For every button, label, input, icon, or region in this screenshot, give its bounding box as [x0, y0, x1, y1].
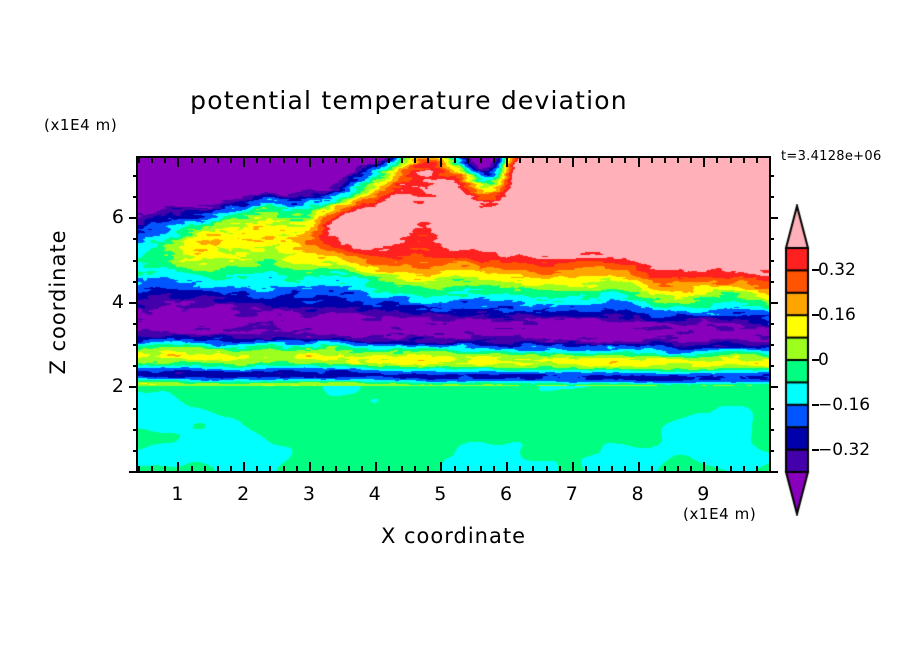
- x-axis-tick: [414, 466, 416, 471]
- x-axis-tick: [638, 462, 640, 471]
- colorbar-tick: [812, 449, 819, 451]
- x-axis-tick: [703, 462, 705, 471]
- y-axis-tick: [769, 450, 774, 452]
- x-axis-tick: [361, 158, 363, 163]
- x-axis-tick: [546, 158, 548, 163]
- y-axis-tick: [769, 217, 778, 219]
- x-axis-tick: [164, 466, 166, 471]
- x-axis-tick: [532, 466, 534, 471]
- x-axis-tick: [177, 158, 179, 167]
- y-axis-tick-labels: 246: [124, 158, 138, 471]
- x-axis-tick: [585, 158, 587, 163]
- x-axis-tick: [703, 158, 705, 167]
- colorbar-gradient: [782, 204, 812, 516]
- x-axis-tick: [243, 158, 245, 167]
- x-axis-label: X coordinate: [136, 524, 771, 548]
- x-axis-tick: [401, 158, 403, 163]
- x-axis-tick: [598, 466, 600, 471]
- colorbar-tick-label: 0.32: [818, 260, 856, 280]
- x-axis-tick: [151, 158, 153, 163]
- y-axis-tick: [769, 323, 774, 325]
- x-axis-tick-label: 7: [566, 483, 578, 505]
- x-axis-tick: [138, 466, 140, 471]
- x-axis-tick-label: 1: [171, 483, 183, 505]
- x-axis-tick: [191, 466, 193, 471]
- x-axis-tick: [519, 466, 521, 471]
- x-axis-tick: [730, 158, 732, 163]
- x-axis-tick: [164, 158, 166, 163]
- colorbar: 0.320.160−0.16−0.32: [782, 204, 812, 516]
- x-axis-tick: [690, 466, 692, 471]
- y-axis-tick-label: 6: [112, 206, 124, 228]
- x-axis-tick: [624, 466, 626, 471]
- x-axis-tick: [743, 466, 745, 471]
- x-axis-tick: [440, 462, 442, 471]
- x-axis-tick: [375, 158, 377, 167]
- x-axis-tick: [348, 158, 350, 163]
- x-axis-tick-label: 9: [697, 483, 709, 505]
- y-axis-tick: [129, 471, 138, 473]
- x-axis-tick-label: 4: [369, 483, 381, 505]
- x-axis-tick: [335, 466, 337, 471]
- x-axis-tick: [283, 158, 285, 163]
- x-axis-tick: [506, 462, 508, 471]
- x-axis-tick: [322, 466, 324, 471]
- x-axis-tick: [361, 466, 363, 471]
- x-axis-tick: [585, 466, 587, 471]
- x-axis-tick: [427, 466, 429, 471]
- x-axis-tick-label: 5: [434, 483, 446, 505]
- x-axis-tick: [388, 158, 390, 163]
- x-axis-tick: [664, 466, 666, 471]
- y-axis-tick: [769, 365, 774, 367]
- x-axis-tick: [651, 158, 653, 163]
- x-axis-tick: [716, 466, 718, 471]
- x-axis-tick: [532, 158, 534, 163]
- x-axis-tick: [230, 158, 232, 163]
- x-axis-tick: [138, 158, 140, 163]
- y-axis-tick: [769, 260, 774, 262]
- x-axis-tick: [756, 466, 758, 471]
- x-axis-tick: [151, 466, 153, 471]
- time-annotation: t=3.4128e+06: [781, 149, 882, 164]
- colorbar-tick: [812, 269, 819, 271]
- x-axis-tick: [546, 466, 548, 471]
- y-axis-tick: [769, 175, 774, 177]
- x-axis-tick: [322, 158, 324, 163]
- colorbar-tick: [812, 404, 819, 406]
- x-axis-tick: [559, 158, 561, 163]
- x-axis-tick: [427, 158, 429, 163]
- colorbar-tick-label: 0: [818, 350, 829, 370]
- x-axis-tick: [716, 158, 718, 163]
- x-axis-tick: [177, 462, 179, 471]
- x-axis-tick: [309, 158, 311, 167]
- x-axis-tick-label: 3: [303, 483, 315, 505]
- x-axis-tick: [388, 466, 390, 471]
- x-axis-tick: [743, 158, 745, 163]
- x-axis-tick: [559, 466, 561, 471]
- x-axis-tick: [467, 158, 469, 163]
- colorbar-tick-label: −0.16: [818, 395, 870, 415]
- x-axis-tick: [769, 462, 771, 471]
- x-axis-tick: [598, 158, 600, 163]
- x-axis-tick: [756, 158, 758, 163]
- y-axis-tick: [769, 344, 774, 346]
- x-axis-tick: [493, 158, 495, 163]
- x-axis-tick: [375, 462, 377, 471]
- x-axis-tick: [296, 158, 298, 163]
- x-axis-tick: [309, 462, 311, 471]
- y-axis-tick-label: 2: [112, 375, 124, 397]
- x-axis-tick: [480, 158, 482, 163]
- x-axis-tick: [335, 158, 337, 163]
- y-axis-label: Z coordinate: [46, 202, 70, 402]
- x-axis-tick: [572, 462, 574, 471]
- x-axis-units-label: (x1E4 m): [683, 505, 756, 523]
- x-axis-tick: [519, 158, 521, 163]
- x-axis-tick: [454, 158, 456, 163]
- x-axis-tick: [217, 466, 219, 471]
- x-axis-tick: [677, 466, 679, 471]
- x-axis-tick: [480, 466, 482, 471]
- x-axis-tick: [204, 158, 206, 163]
- x-axis-tick: [256, 466, 258, 471]
- colorbar-tick-label: −0.32: [818, 440, 870, 460]
- x-axis-tick: [283, 466, 285, 471]
- x-axis-tick: [572, 158, 574, 167]
- x-axis-tick: [230, 466, 232, 471]
- x-axis-tick: [611, 158, 613, 163]
- x-axis-tick: [624, 158, 626, 163]
- x-axis-tick: [677, 158, 679, 163]
- x-axis-tick: [269, 466, 271, 471]
- x-axis-tick-label: 2: [237, 483, 249, 505]
- x-axis-tick: [467, 466, 469, 471]
- x-axis-tick: [269, 158, 271, 163]
- colorbar-tick-label: 0.16: [818, 305, 856, 325]
- y-axis-units-label: (x1E4 m): [44, 116, 117, 134]
- plot-area: 123456789 246: [136, 156, 771, 473]
- x-axis-tick: [414, 158, 416, 163]
- x-axis-tick: [191, 158, 193, 163]
- x-axis-tick: [493, 466, 495, 471]
- y-axis-tick: [769, 302, 778, 304]
- x-axis-tick: [256, 158, 258, 163]
- y-axis-tick-label: 4: [112, 291, 124, 313]
- x-axis-tick: [638, 158, 640, 167]
- y-axis-tick: [769, 471, 778, 473]
- x-axis-tick-label: 8: [631, 483, 643, 505]
- x-axis-tick-label: 6: [500, 483, 512, 505]
- x-axis-tick: [690, 158, 692, 163]
- contour-field: [138, 158, 769, 471]
- y-axis-tick: [769, 238, 774, 240]
- x-axis-tick: [243, 462, 245, 471]
- y-axis-tick: [769, 196, 774, 198]
- y-axis-tick: [769, 386, 778, 388]
- x-axis-tick: [401, 466, 403, 471]
- y-axis-tick: [769, 408, 774, 410]
- y-axis-tick: [769, 429, 774, 431]
- page-title-text: potential temperature deviation: [190, 86, 628, 115]
- x-axis-tick: [296, 466, 298, 471]
- x-axis-tick: [217, 158, 219, 163]
- x-axis-tick: [440, 158, 442, 167]
- y-axis-tick: [769, 281, 774, 283]
- x-axis-tick: [730, 466, 732, 471]
- x-axis-tick: [506, 158, 508, 167]
- x-axis-tick: [204, 466, 206, 471]
- x-axis-tick: [651, 466, 653, 471]
- x-axis-tick: [454, 466, 456, 471]
- x-axis-tick: [611, 466, 613, 471]
- colorbar-tick: [812, 359, 819, 361]
- page-title: potential temperature deviation: [0, 86, 904, 115]
- x-axis-tick: [769, 158, 771, 167]
- x-axis-tick: [348, 466, 350, 471]
- colorbar-tick: [812, 314, 819, 316]
- x-axis-tick: [664, 158, 666, 163]
